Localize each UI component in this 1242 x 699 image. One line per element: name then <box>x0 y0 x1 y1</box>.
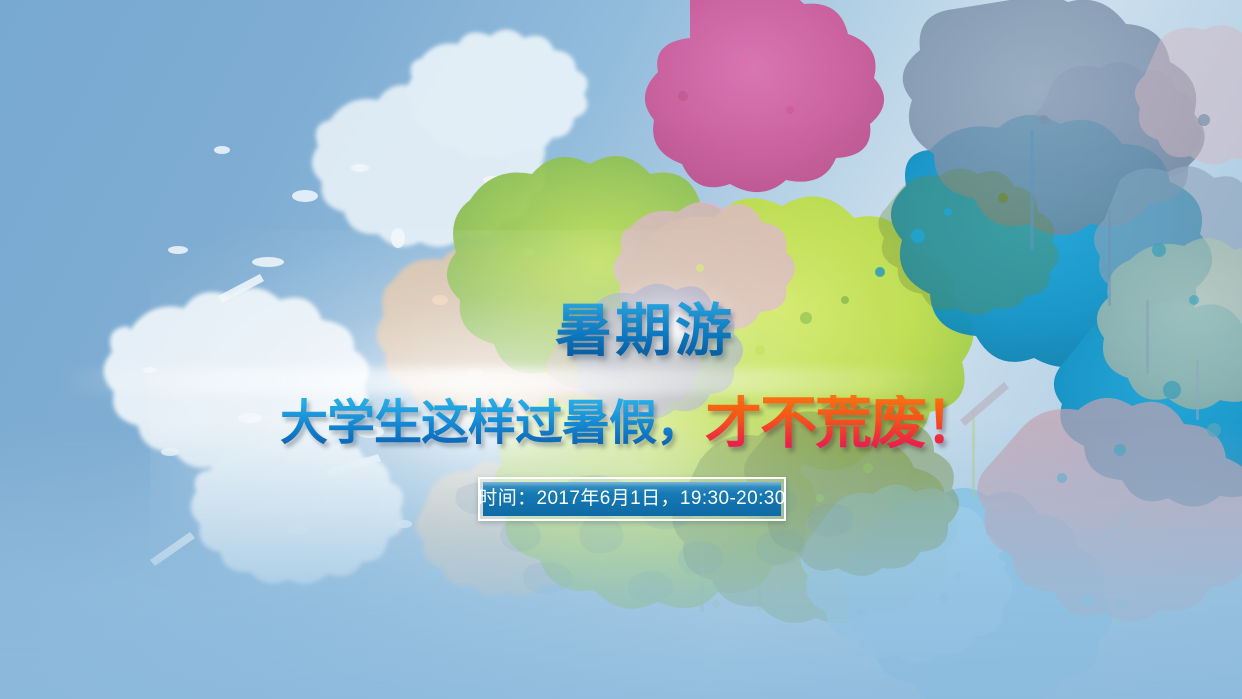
subtitle-blue-text: 大学生这样过暑假， <box>280 396 703 452</box>
subtitle-orange-text: 才不荒废！ <box>705 395 980 451</box>
page-title: 暑期游 <box>0 300 1242 362</box>
event-time-badge: 时间：2017年6月1日，19:30-20:30 <box>478 477 786 521</box>
event-time-badge-inner: 时间：2017年6月1日，19:30-20:30 <box>483 482 781 516</box>
poster-text-block: 暑期游 大学生这样过暑假，才不荒废！ 时间：2017年6月1日，19:30-20… <box>0 0 1242 699</box>
event-time-text: 时间：2017年6月1日，19:30-20:30 <box>478 489 785 509</box>
promo-poster: 暑期游 大学生这样过暑假，才不荒废！ 时间：2017年6月1日，19:30-20… <box>0 0 1242 699</box>
subtitle-row: 大学生这样过暑假，才不荒废！ <box>0 392 1242 452</box>
